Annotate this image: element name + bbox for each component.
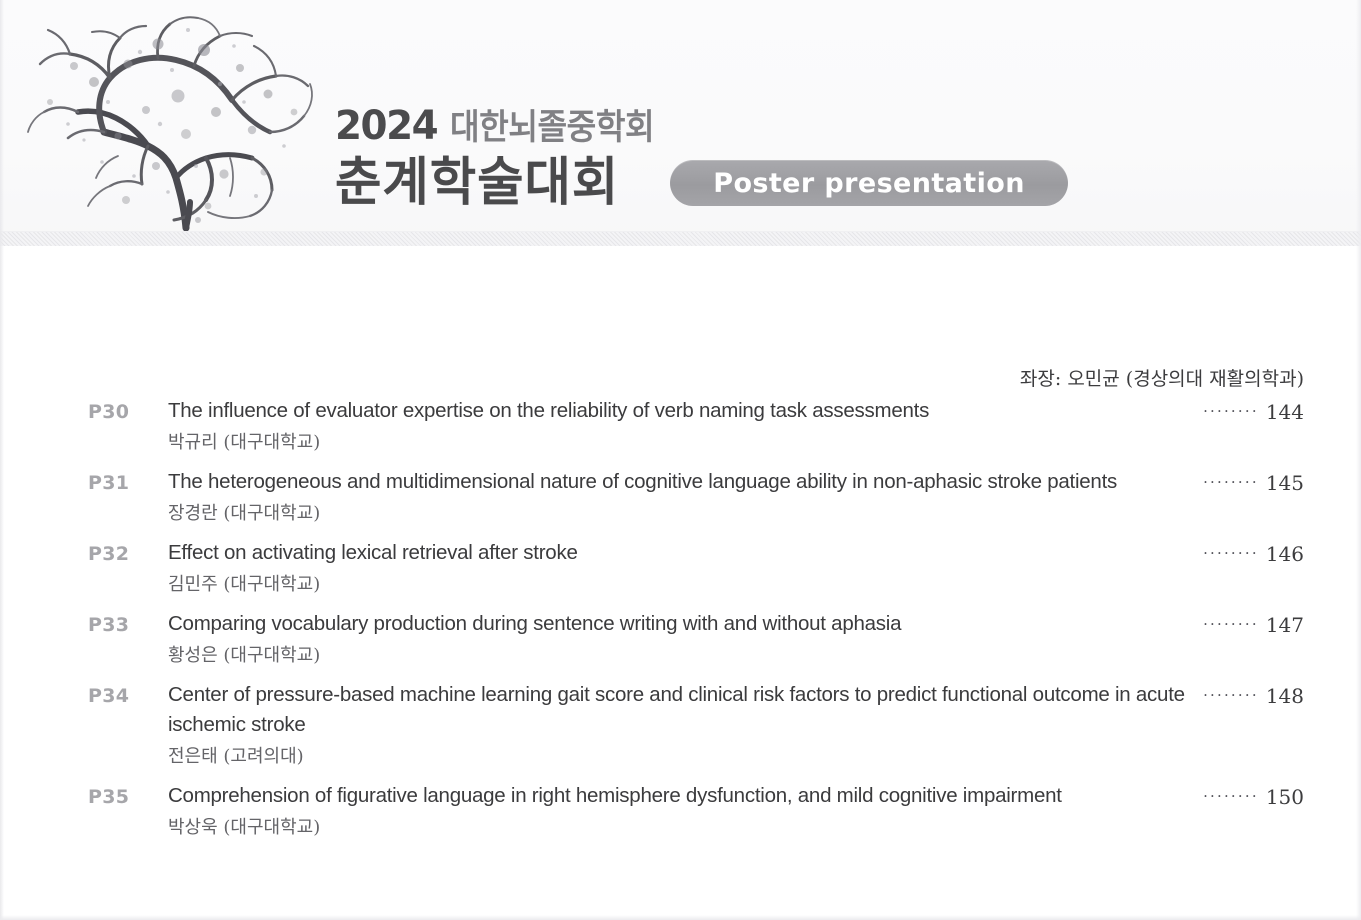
poster-body: The influence of evaluator expertise on … (168, 396, 1203, 458)
poster-author: 박상욱 (대구대학교) (168, 813, 1189, 843)
poster-title: Comparing vocabulary production during s… (168, 609, 1189, 639)
poster-code: P34 (88, 680, 168, 711)
list-item[interactable]: P31 The heterogeneous and multidimension… (0, 467, 1361, 529)
poster-author: 장경란 (대구대학교) (168, 499, 1189, 529)
poster-title: The influence of evaluator expertise on … (168, 396, 1189, 426)
conference-title-block: 2024 대한뇌졸중학회 춘계학술대회 Poster presentation (335, 104, 1055, 214)
dot-leader: ········ (1203, 680, 1259, 710)
poster-page-ref: ········ 146 (1203, 538, 1304, 571)
poster-author: 황성은 (대구대학교) (168, 641, 1189, 671)
poster-list: P30 The influence of evaluator expertise… (0, 396, 1361, 852)
page-number: 144 (1266, 397, 1304, 427)
poster-body: Comprehension of figurative language in … (168, 781, 1203, 843)
poster-body: The heterogeneous and multidimensional n… (168, 467, 1203, 529)
dot-leader: ········ (1203, 781, 1259, 811)
poster-code: P31 (88, 467, 168, 498)
poster-page-ref: ········ 147 (1203, 609, 1304, 642)
page-number: 145 (1266, 468, 1304, 498)
poster-page-ref: ········ 145 (1203, 467, 1304, 500)
poster-author: 김민주 (대구대학교) (168, 570, 1189, 600)
page-number: 146 (1266, 539, 1304, 569)
poster-title: The heterogeneous and multidimensional n… (168, 467, 1189, 497)
organization-name: 대한뇌졸중학회 (450, 106, 654, 150)
poster-title: Effect on activating lexical retrieval a… (168, 538, 1189, 568)
dot-leader: ········ (1203, 467, 1259, 497)
poster-title: Comprehension of figurative language in … (168, 781, 1189, 811)
header-divider (0, 231, 1361, 246)
poster-code: P33 (88, 609, 168, 640)
poster-page-ref: ········ 148 (1203, 680, 1304, 713)
poster-body: Center of pressure-based machine learnin… (168, 680, 1203, 772)
poster-author: 박규리 (대구대학교) (168, 428, 1189, 458)
list-item[interactable]: P33 Comparing vocabulary production duri… (0, 609, 1361, 671)
poster-code: P30 (88, 396, 168, 427)
page-header: 2024 대한뇌졸중학회 춘계학술대회 Poster presentation (0, 0, 1361, 246)
page-number: 150 (1266, 782, 1304, 812)
poster-presentation-badge: Poster presentation (670, 160, 1068, 206)
list-item[interactable]: P34 Center of pressure-based machine lea… (0, 680, 1361, 772)
poster-code: P32 (88, 538, 168, 569)
list-item[interactable]: P30 The influence of evaluator expertise… (0, 396, 1361, 458)
conference-year: 2024 (335, 104, 437, 148)
dot-leader: ········ (1203, 538, 1259, 568)
list-item[interactable]: P32 Effect on activating lexical retriev… (0, 538, 1361, 600)
page-number: 148 (1266, 681, 1304, 711)
dot-leader: ········ (1203, 396, 1259, 426)
poster-author: 전은태 (고려의대) (168, 742, 1189, 772)
list-item[interactable]: P35 Comprehension of figurative language… (0, 781, 1361, 843)
poster-code: P35 (88, 781, 168, 812)
session-chair: 좌장: 오민균 (경상의대 재활의학과) (1020, 364, 1304, 391)
brain-tree-logo-icon (8, 6, 338, 236)
poster-body: Effect on activating lexical retrieval a… (168, 538, 1203, 600)
title-line-one: 2024 대한뇌졸중학회 (335, 104, 1055, 150)
poster-page-ref: ········ 150 (1203, 781, 1304, 814)
poster-page-ref: ········ 144 (1203, 396, 1304, 429)
dot-leader: ········ (1203, 609, 1259, 639)
poster-title: Center of pressure-based machine learnin… (168, 680, 1189, 740)
title-line-two: 춘계학술대회 Poster presentation (335, 152, 1055, 214)
conference-name: 춘계학술대회 (335, 154, 619, 212)
scan-edge-bottom (0, 915, 1361, 920)
page-number: 147 (1266, 610, 1304, 640)
poster-body: Comparing vocabulary production during s… (168, 609, 1203, 671)
